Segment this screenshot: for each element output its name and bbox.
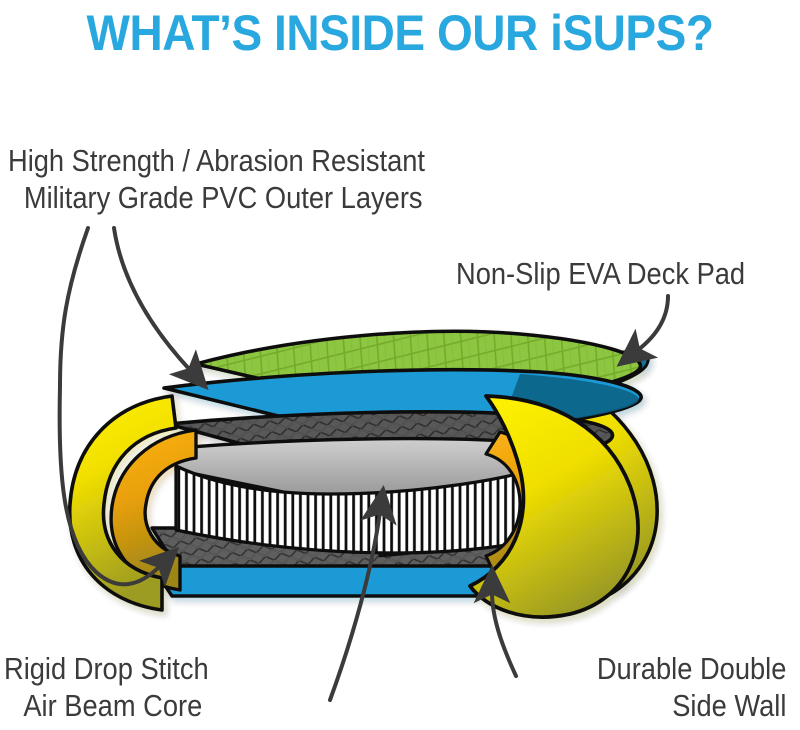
arrow-eva-deck-pad xyxy=(638,296,668,350)
callout-arrows xyxy=(60,228,668,700)
isup-construction-infographic: WHAT’S INSIDE OUR iSUPS? xyxy=(0,0,800,730)
inner-side-wall-rail-left xyxy=(111,430,196,590)
top-core-cap-shape xyxy=(176,439,559,512)
bottom-drop-stitch-fabric-shape xyxy=(152,528,566,566)
arrow-pvc-bottom xyxy=(60,386,160,584)
inner-side-wall-rail-right xyxy=(486,432,548,582)
callout-label-pvc-line-1: High Strength / Abrasion Resistant xyxy=(8,142,425,179)
callout-label-wall-line-1: Durable Double xyxy=(596,650,786,687)
top-pvc-outer-layer-shape xyxy=(164,370,641,444)
isup-cutaway-illustration xyxy=(0,0,800,730)
arrow-drop-stitch-core xyxy=(330,512,380,700)
callout-label-deck-line-1: Non-Slip EVA Deck Pad xyxy=(456,255,745,292)
callout-label-pvc-outer-layers: High Strength / Abrasion Resistant Milit… xyxy=(8,142,425,216)
eva-deck-pad-shape xyxy=(196,331,648,420)
callout-label-double-side-wall: Durable Double Side Wall xyxy=(596,650,786,724)
arrow-pvc-bottom-stem xyxy=(60,228,88,386)
arrow-pvc-top xyxy=(114,228,190,370)
outer-side-wall-rail-right xyxy=(492,370,657,606)
arrow-side-wall xyxy=(492,592,516,676)
top-drop-stitch-fabric-shape xyxy=(168,412,612,482)
outer-side-wall-rail-left xyxy=(70,396,176,610)
callout-label-core-line-1: Rigid Drop Stitch xyxy=(4,650,209,687)
outer-side-wall-rail-right-front xyxy=(470,396,638,617)
drop-stitch-air-beam-core-shape xyxy=(176,464,578,556)
callout-label-core-line-2: Air Beam Core xyxy=(4,687,209,724)
callout-label-pvc-line-2: Military Grade PVC Outer Layers xyxy=(8,179,425,216)
callout-label-eva-deck-pad: Non-Slip EVA Deck Pad xyxy=(456,255,745,292)
callout-label-wall-line-2: Side Wall xyxy=(596,687,786,724)
bottom-pvc-outer-layer-shape xyxy=(148,560,560,596)
page-title: WHAT’S INSIDE OUR iSUPS? xyxy=(32,4,768,62)
callout-label-drop-stitch-core: Rigid Drop Stitch Air Beam Core xyxy=(4,650,209,724)
